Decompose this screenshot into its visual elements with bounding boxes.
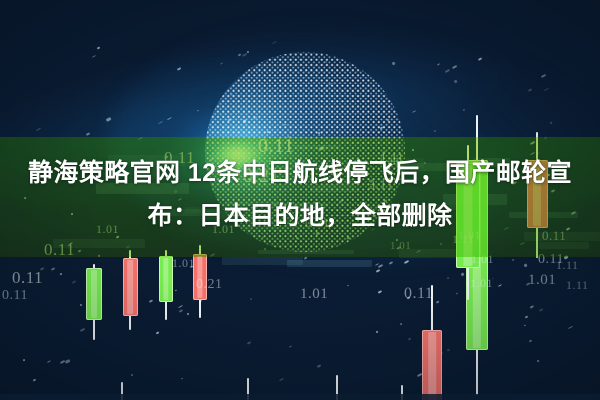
- bottom-edge-strip: [0, 394, 600, 400]
- headline: 静海策略官网 12条中日航线停飞后，国产邮轮宣 布：日本目的地，全部删除: [0, 152, 600, 238]
- headline-line-2: 布：日本目的地，全部删除: [18, 195, 582, 238]
- news-banner-image: 0.111.011.010.210.110.111.010.110.211.11…: [0, 0, 600, 400]
- headline-line-1: 静海策略官网 12条中日航线停飞后，国产邮轮宣: [18, 152, 582, 195]
